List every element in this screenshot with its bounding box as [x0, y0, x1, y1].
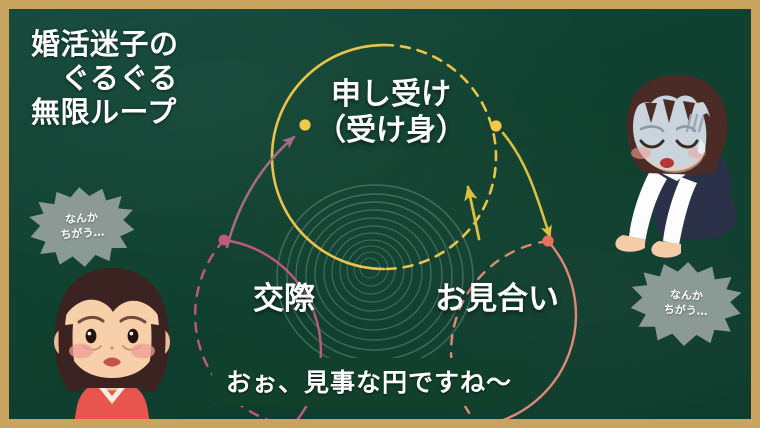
callout-right-line2: ちがう…: [663, 303, 708, 320]
character-right: [597, 73, 755, 263]
arrow-left-up: [227, 137, 294, 247]
dot-top-right: [490, 120, 501, 131]
dot-left: [219, 235, 230, 246]
center-spiral: [277, 185, 473, 369]
dot-right: [542, 235, 553, 246]
callout-left-line2: ちがう…: [60, 225, 105, 243]
video-frame: 婚活迷子の ぐるぐる 無限ループ 申し受け （受け身） 交際 お見合い おぉ、見…: [0, 0, 760, 428]
subtitle-caption: おぉ、見事な円ですね〜: [212, 358, 526, 406]
label-node-left: 交際: [214, 281, 354, 318]
character-left: [37, 256, 187, 428]
arrow-center-up: [468, 187, 479, 239]
label-node-top: 申し受け （受け身）: [291, 77, 491, 149]
arrow-right-down: [503, 133, 550, 237]
label-node-top-line2: （受け身）: [316, 113, 466, 148]
label-node-right: お見合い: [407, 281, 587, 318]
label-node-top-line1: 申し受け: [331, 77, 451, 112]
